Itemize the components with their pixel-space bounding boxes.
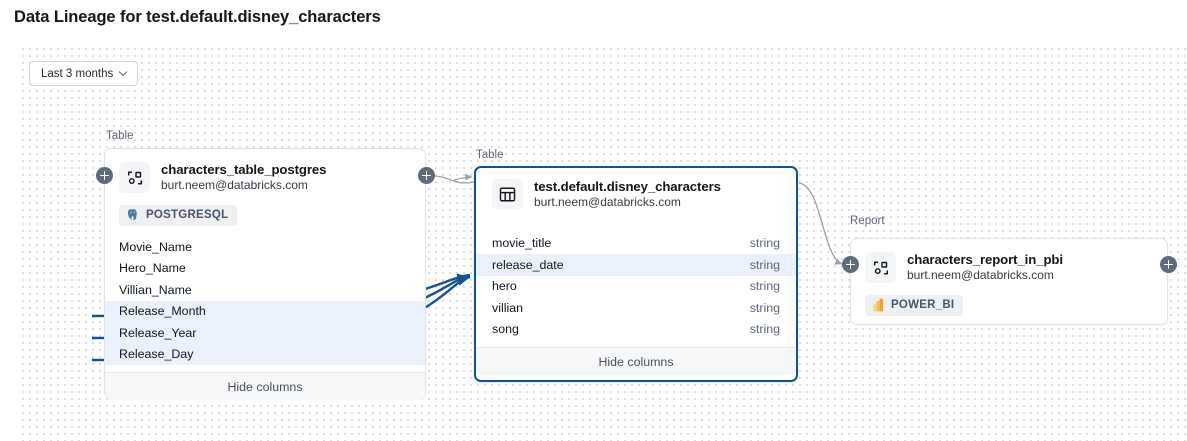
hide-columns-button[interactable]: Hide columns [105, 372, 425, 400]
page-title: Data Lineage for test.default.disney_cha… [14, 8, 381, 27]
column-row[interactable]: Release_Month [105, 301, 425, 323]
node-caption-report: Report [850, 215, 885, 227]
power-bi-icon [872, 298, 885, 312]
table-grid-icon [492, 179, 523, 210]
node-header: characters_report_in_pbi burt.neem@datab… [851, 239, 1167, 286]
column-name: Hero_Name [119, 261, 186, 275]
edge-postgres-to-disney [433, 176, 474, 183]
column-type: string [750, 279, 780, 293]
column-row[interactable]: release_date string [476, 254, 796, 276]
date-range-filter-button[interactable]: Last 3 months [29, 61, 138, 86]
node-characters-table-postgres[interactable]: characters_table_postgres burt.neem@data… [104, 148, 426, 399]
external-connection-icon [119, 162, 150, 193]
source-badge-label: POSTGRESQL [146, 209, 228, 221]
column-name: release_date [492, 258, 564, 272]
expand-upstream-handle-report[interactable] [842, 256, 859, 273]
expand-downstream-handle-postgres[interactable] [418, 167, 435, 184]
date-range-filter-label: Last 3 months [41, 68, 113, 80]
column-name: Villian_Name [119, 283, 192, 297]
node-titles: characters_table_postgres burt.neem@data… [161, 162, 326, 194]
edge-disney-to-report [799, 183, 842, 264]
column-row[interactable]: Movie_Name [105, 236, 425, 258]
node-badge-row: POSTGRESQL [105, 196, 425, 228]
column-type: string [750, 322, 780, 336]
column-name: Release_Month [119, 304, 206, 318]
node-titles: test.default.disney_characters burt.neem… [534, 179, 721, 211]
lineage-canvas[interactable]: Last 3 months [22, 48, 1187, 441]
node-test-default-disney-characters[interactable]: test.default.disney_characters burt.neem… [474, 166, 798, 382]
expand-downstream-handle-report[interactable] [1160, 256, 1177, 273]
hide-columns-button[interactable]: Hide columns [476, 347, 796, 375]
column-type: string [750, 236, 780, 250]
column-name: Release_Year [119, 326, 196, 340]
column-row[interactable]: Release_Day [105, 344, 425, 366]
node-header: characters_table_postgres burt.neem@data… [105, 149, 425, 196]
column-row[interactable]: song string [476, 319, 796, 341]
node-badge-row: POWER_BI [851, 286, 1167, 318]
column-name: song [492, 322, 519, 336]
node-caption-postgres: Table [106, 130, 134, 142]
expand-upstream-handle-postgres[interactable] [96, 167, 113, 184]
column-row[interactable]: Release_Year [105, 322, 425, 344]
node-titles: characters_report_in_pbi burt.neem@datab… [907, 252, 1063, 284]
column-list: Movie_Name Hero_Name Villian_Name Releas… [105, 236, 425, 365]
column-row[interactable]: Villian_Name [105, 279, 425, 301]
column-row[interactable]: hero string [476, 276, 796, 298]
column-name: hero [492, 279, 517, 293]
node-name: characters_table_postgres [161, 162, 326, 178]
column-name: Release_Day [119, 347, 193, 361]
node-characters-report-in-pbi[interactable]: characters_report_in_pbi burt.neem@datab… [850, 238, 1168, 325]
postgresql-icon [126, 208, 140, 222]
column-name: Movie_Name [119, 240, 192, 254]
column-name: villian [492, 301, 523, 315]
column-type: string [750, 301, 780, 315]
node-name: characters_report_in_pbi [907, 252, 1063, 268]
node-owner: burt.neem@databricks.com [161, 178, 326, 194]
node-caption-disney: Table [476, 149, 504, 161]
node-header: test.default.disney_characters burt.neem… [476, 168, 796, 213]
node-owner: burt.neem@databricks.com [534, 195, 721, 211]
node-name: test.default.disney_characters [534, 179, 721, 195]
column-row[interactable]: villian string [476, 297, 796, 319]
source-badge-label: POWER_BI [891, 299, 954, 311]
column-type: string [750, 258, 780, 272]
column-row[interactable]: Hero_Name [105, 258, 425, 280]
external-connection-icon [865, 252, 896, 283]
source-badge-postgresql: POSTGRESQL [119, 205, 237, 226]
column-name: movie_title [492, 236, 551, 250]
column-row[interactable]: movie_title string [476, 233, 796, 255]
node-owner: burt.neem@databricks.com [907, 268, 1063, 284]
source-badge-power-bi: POWER_BI [865, 295, 963, 316]
column-list: movie_title string release_date string h… [476, 233, 796, 341]
chevron-down-icon [120, 68, 128, 76]
